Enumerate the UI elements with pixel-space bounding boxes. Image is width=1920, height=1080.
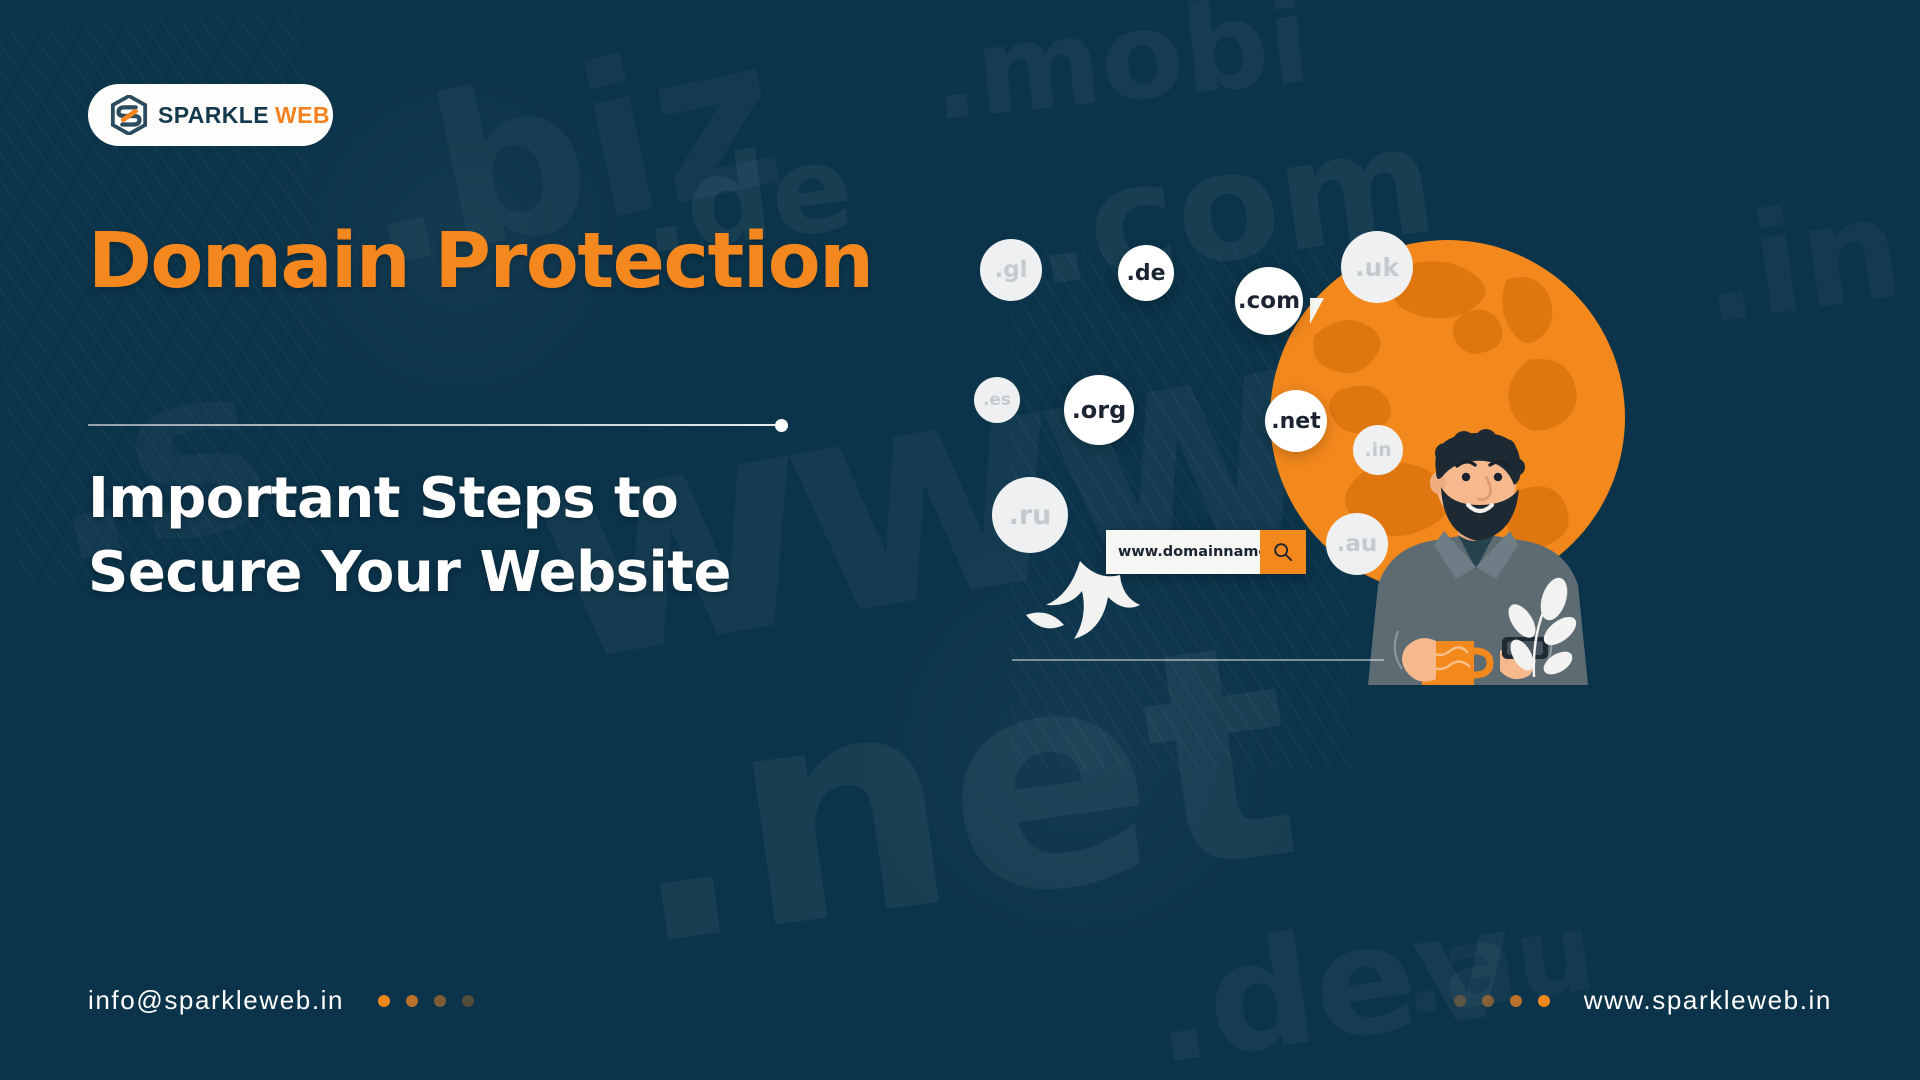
ground-line xyxy=(1012,659,1384,661)
brand-logo[interactable]: SPARKLE WEB xyxy=(88,84,333,146)
divider-dot xyxy=(775,419,788,432)
divider-line xyxy=(88,424,776,426)
footer-dots-right xyxy=(1454,995,1550,1007)
domain-bubble-net[interactable]: .net xyxy=(1265,390,1327,452)
footer-left: info@sparkleweb.in xyxy=(88,985,474,1016)
magnifier-icon xyxy=(1272,541,1294,563)
page-subtitle: Important Steps to Secure Your Website xyxy=(88,462,868,610)
dot xyxy=(378,995,390,1007)
domain-bubble-gl[interactable]: .gl xyxy=(980,239,1042,301)
domain-bubble-in[interactable]: .in xyxy=(1353,425,1403,475)
search-button[interactable] xyxy=(1260,530,1306,574)
dot xyxy=(434,995,446,1007)
footer-right: www.sparkleweb.in xyxy=(1454,985,1832,1016)
search-bar-tail xyxy=(1310,298,1324,324)
footer-email[interactable]: info@sparkleweb.in xyxy=(88,985,344,1016)
footer-dots-left xyxy=(378,995,474,1007)
domain-bubble-es[interactable]: .es xyxy=(974,377,1020,423)
domain-bubble-ru[interactable]: .ru xyxy=(992,477,1068,553)
domain-bubble-au[interactable]: .au xyxy=(1326,513,1388,575)
leaf-decoration-right xyxy=(1478,575,1588,685)
domain-bubble-com[interactable]: .com xyxy=(1235,267,1303,335)
page-title: Domain Protection xyxy=(88,222,872,303)
dot xyxy=(462,995,474,1007)
dot xyxy=(1482,995,1494,1007)
domain-bubble-de[interactable]: .de xyxy=(1118,245,1174,301)
logo-text-web: WEB xyxy=(275,102,330,129)
footer-website[interactable]: www.sparkleweb.in xyxy=(1584,985,1832,1016)
dot xyxy=(1454,995,1466,1007)
domain-bubble-org[interactable]: .org xyxy=(1064,375,1134,445)
leaf-decoration-left xyxy=(1018,555,1148,670)
dot xyxy=(1538,995,1550,1007)
divider xyxy=(88,420,788,430)
dot xyxy=(406,995,418,1007)
hexagon-s-icon xyxy=(110,95,148,135)
logo-text-sparkle: SPARKLE xyxy=(158,102,269,129)
dot xyxy=(1510,995,1522,1007)
watermark-au: .au xyxy=(1392,887,1602,1041)
hero-illustration: www.domainnames. .gl .de .com .uk .es .o… xyxy=(1190,255,1830,685)
domain-bubble-uk[interactable]: .uk xyxy=(1341,231,1413,303)
